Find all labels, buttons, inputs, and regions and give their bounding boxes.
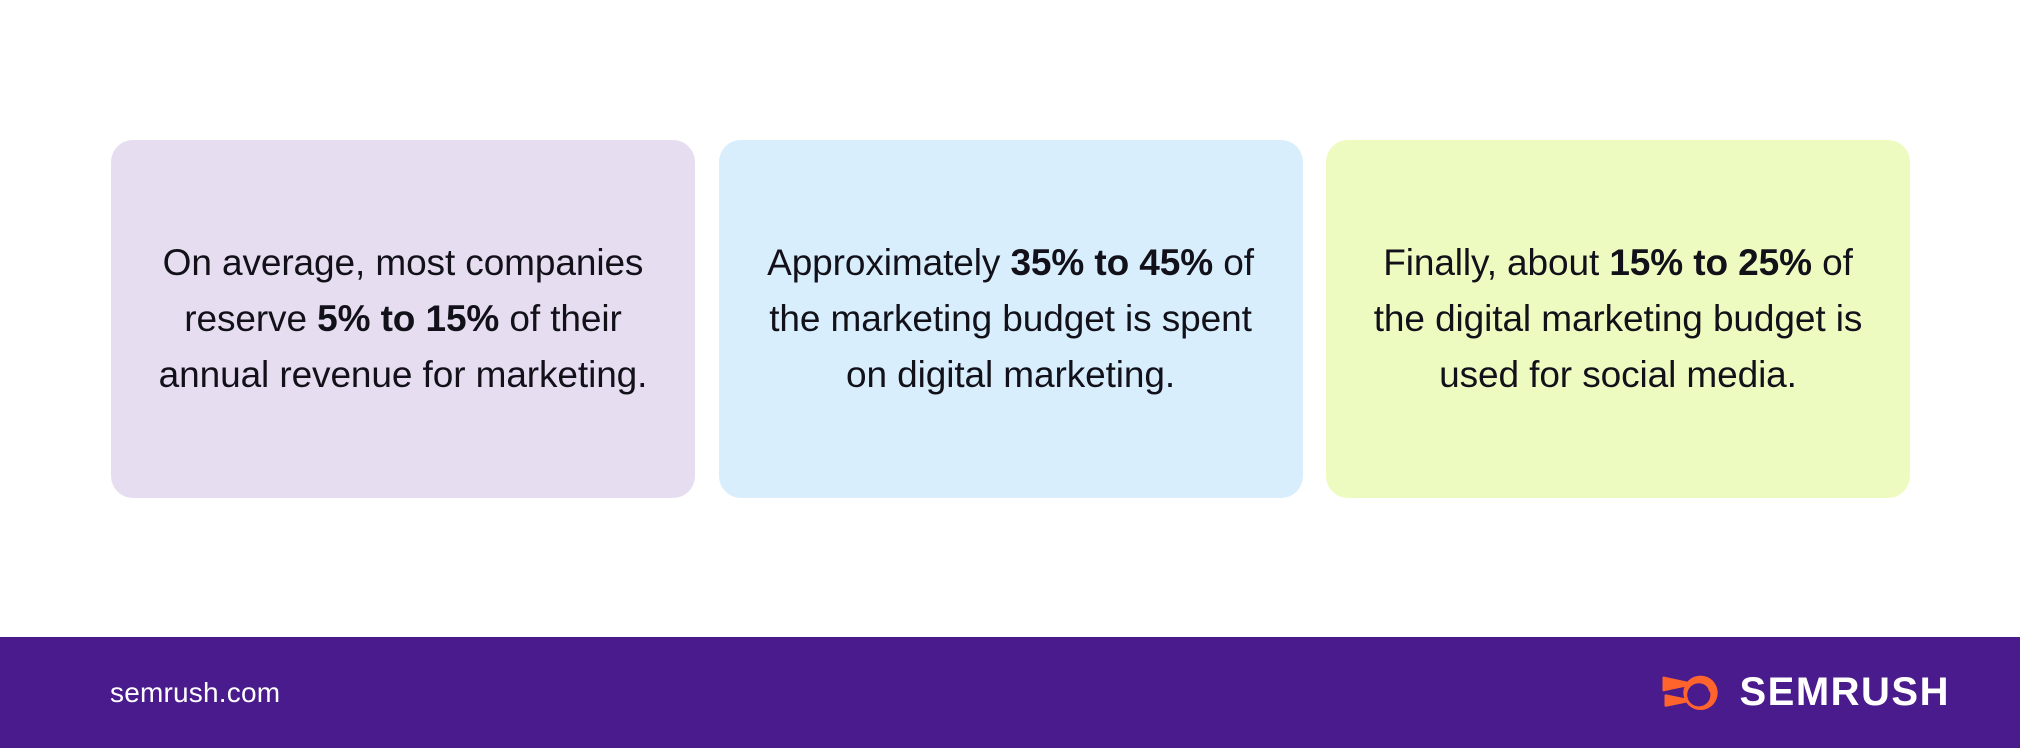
semrush-brand-logo[interactable]: SEMRUSH [1661, 670, 1950, 715]
infographic-root: On average, most companies reserve 5% to… [0, 0, 2020, 748]
footer-site-url[interactable]: semrush.com [110, 677, 280, 709]
stat-card-digital-share: Approximately 35% to 45% of the marketin… [719, 140, 1303, 498]
stat-value-bold: 5% to 15% [317, 298, 499, 339]
semrush-wordmark: SEMRUSH [1739, 670, 1950, 715]
stat-card-text: Finally, about 15% to 25% of the digital… [1353, 235, 1883, 403]
stat-card-annual-revenue: On average, most companies reserve 5% to… [111, 140, 695, 498]
semrush-comet-logo-icon [1661, 671, 1721, 715]
stat-text-regular: Finally, about [1383, 242, 1609, 283]
stat-cards-row: On average, most companies reserve 5% to… [111, 140, 1910, 498]
stat-card-social-media-share: Finally, about 15% to 25% of the digital… [1326, 140, 1910, 498]
stat-text-regular: Approximately [767, 242, 1010, 283]
stat-value-bold: 35% to 45% [1010, 242, 1213, 283]
footer-bar: semrush.com SEMRUSH [0, 637, 2020, 748]
stat-value-bold: 15% to 25% [1609, 242, 1812, 283]
stat-card-text: On average, most companies reserve 5% to… [138, 235, 668, 403]
stat-card-text: Approximately 35% to 45% of the marketin… [746, 235, 1276, 403]
